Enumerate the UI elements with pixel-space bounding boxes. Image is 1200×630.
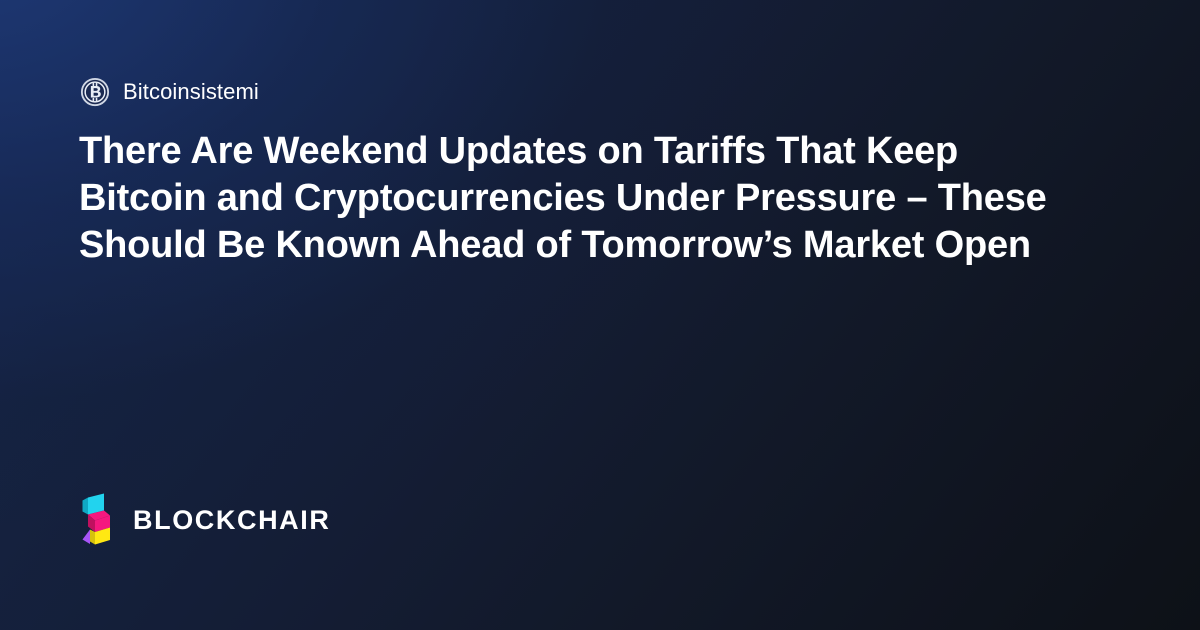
publisher-byline: Bitcoinsistemi <box>80 74 259 110</box>
publisher-name: Bitcoinsistemi <box>123 81 259 103</box>
bitcoin-coin-icon <box>80 77 110 107</box>
blockchair-brand-lockup: BLOCKCHAIR <box>79 491 331 549</box>
blockchair-logo-icon <box>79 492 115 548</box>
headline-title: There Are Weekend Updates on Tariffs Tha… <box>79 128 1069 268</box>
blockchair-wordmark: BLOCKCHAIR <box>133 507 331 534</box>
share-card: Bitcoinsistemi There Are Weekend Updates… <box>0 0 1200 630</box>
